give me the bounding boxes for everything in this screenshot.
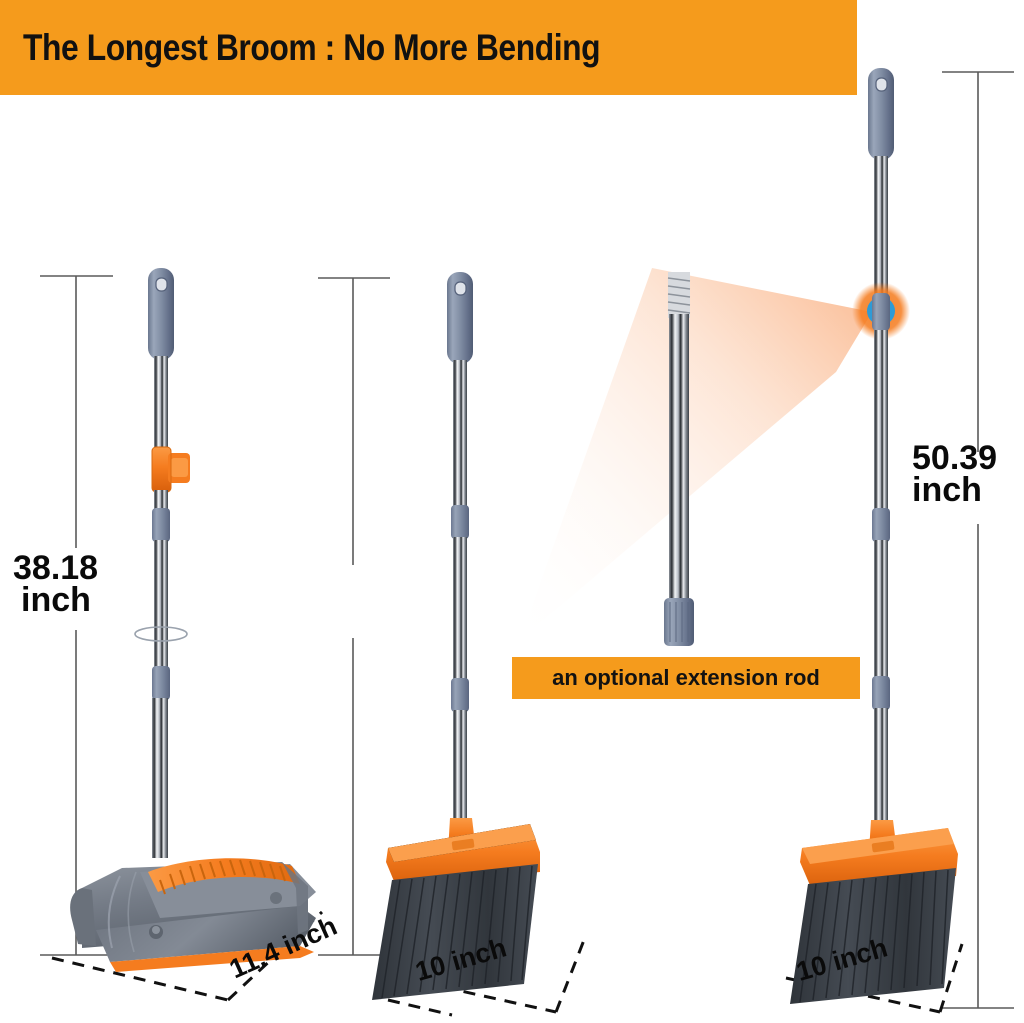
broom-extended-handle-grip bbox=[868, 68, 894, 160]
broom-pole-lower bbox=[453, 710, 467, 822]
dustpan-pole-mid bbox=[154, 490, 168, 510]
dustpan-pole-lower bbox=[154, 540, 168, 670]
broom-extended-collar-2 bbox=[872, 676, 890, 710]
dim-right-unit: inch bbox=[912, 475, 997, 507]
broom-pole-collar-1 bbox=[451, 505, 469, 539]
broom-pole-mid bbox=[453, 537, 467, 681]
broom-pole-upper bbox=[453, 360, 467, 508]
extension-rod-thread bbox=[668, 272, 690, 318]
broom-extended-pole-mid bbox=[874, 540, 888, 682]
broom-pole-collar-2 bbox=[451, 678, 469, 712]
figure-dustpan-assembly bbox=[70, 268, 316, 972]
broom-extended-pole-lower bbox=[874, 708, 888, 826]
extension-rod-grip bbox=[664, 598, 694, 646]
broom-clip bbox=[152, 447, 190, 492]
figure-broom-standard bbox=[372, 272, 540, 1000]
extension-rod-callout: an optional extension rod bbox=[512, 657, 860, 699]
broom-extended-pole-upper bbox=[874, 330, 888, 512]
dim-left-unit: inch bbox=[21, 585, 98, 617]
dustpan-pole-collar-2 bbox=[152, 666, 170, 700]
figure-broom-extended bbox=[790, 68, 958, 1004]
broom-extended-collar-1 bbox=[872, 508, 890, 542]
dustpan-handle-grip bbox=[148, 268, 174, 360]
header-banner: The Longest Broom : No More Bending bbox=[0, 0, 857, 95]
extension-rod-shaft bbox=[669, 314, 689, 604]
dustpan-pole-bottom bbox=[152, 698, 168, 858]
dustpan-pole-upper bbox=[154, 356, 168, 456]
dustpan-pole-collar bbox=[152, 508, 170, 542]
product-illustration bbox=[0, 0, 1024, 1023]
broom-handle-grip bbox=[447, 272, 473, 364]
dimension-label-height-left: 38.18 inch bbox=[13, 553, 98, 617]
infographic-stage: 38.18 inch 50.39 inch 11.4 inch 10 inch … bbox=[0, 0, 1024, 1023]
light-cone-effect bbox=[520, 268, 872, 640]
page-title: The Longest Broom : No More Bending bbox=[23, 27, 600, 69]
extension-rod-callout-text: an optional extension rod bbox=[552, 665, 820, 691]
dimension-label-height-right: 50.39 inch bbox=[912, 443, 997, 507]
